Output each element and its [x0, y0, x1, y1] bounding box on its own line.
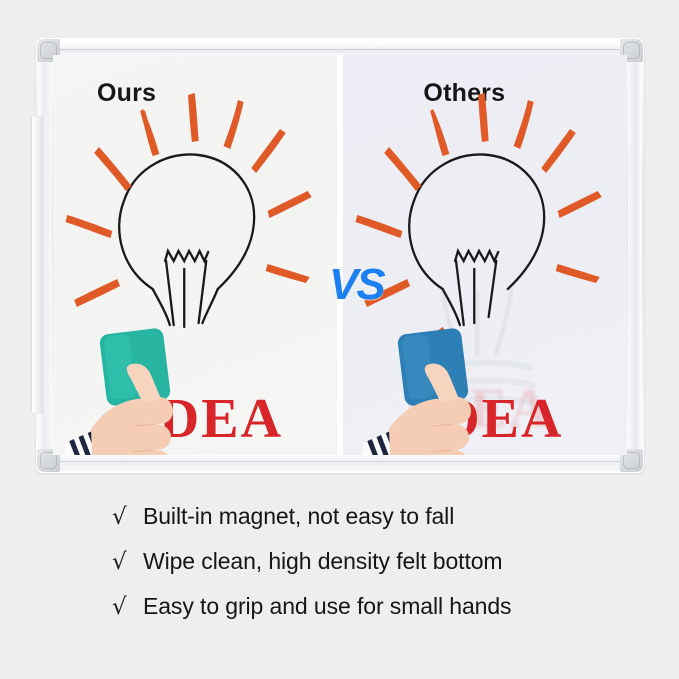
feature-label: Easy to grip and use for small hands [143, 593, 511, 620]
vs-badge: VS [329, 260, 384, 310]
frame-rail-bottom [47, 455, 633, 471]
check-icon: √ [112, 506, 143, 529]
frame-rail-top [47, 40, 633, 55]
whiteboard-product: Ours [36, 38, 644, 473]
product-image-stage: Ours [0, 0, 679, 679]
feature-item: √ Wipe clean, high density felt bottom [112, 548, 582, 574]
hand-with-eraser-ours [63, 325, 253, 455]
feature-item: √ Built-in magnet, not easy to fall [112, 503, 582, 529]
feature-list: √ Built-in magnet, not easy to fall √ Wi… [112, 503, 582, 638]
board-writing-surface: Ours [53, 55, 627, 455]
feature-label: Wipe clean, high density felt bottom [143, 548, 502, 575]
panel-others: Others [343, 55, 627, 455]
check-icon: √ [112, 551, 143, 574]
feature-label: Built-in magnet, not easy to fall [143, 503, 454, 530]
frame-rail-right [628, 49, 642, 462]
panel-ours: Ours [53, 55, 337, 455]
wall-hanger-strip [32, 116, 46, 413]
feature-item: √ Easy to grip and use for small hands [112, 593, 582, 619]
hand-with-eraser-others [361, 325, 551, 455]
panel-divider [337, 55, 344, 455]
check-icon: √ [112, 596, 143, 619]
